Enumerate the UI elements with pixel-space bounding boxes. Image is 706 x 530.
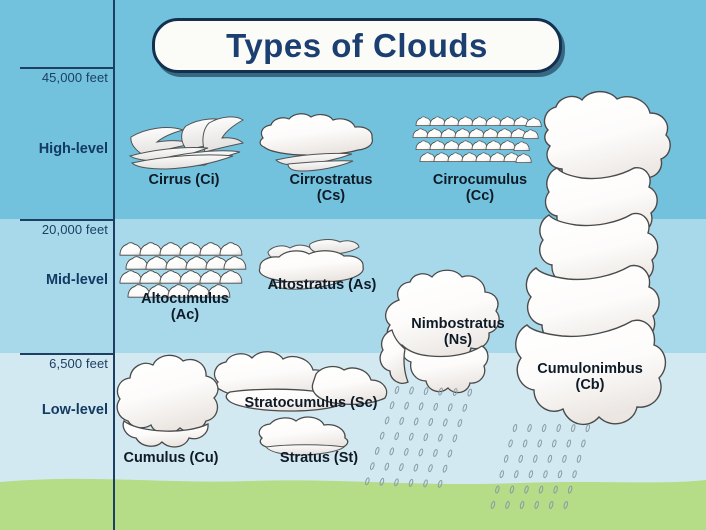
cloud-label-cirrus: Cirrus (Ci) (114, 172, 254, 188)
level-label-low: Low-level (8, 402, 108, 418)
altitude-label-45000: 45,000 feet (8, 70, 108, 85)
cloud-label-stratus: Stratus (St) (256, 450, 382, 466)
level-label-mid: Mid-level (8, 272, 108, 288)
cloud-label-stratocumulus: Stratocumulus (Sc) (216, 395, 406, 411)
cloud-label-cumulus: Cumulus (Cu) (106, 450, 236, 466)
page-title: Types of Clouds (226, 29, 488, 62)
cloud-label-cirrocumulus: Cirrocumulus (Cc) (400, 172, 560, 204)
cloud-label-altocumulus: Altocumulus (Ac) (110, 291, 260, 323)
altitude-label-20000: 20,000 feet (8, 222, 108, 237)
tick-6500 (20, 353, 115, 355)
cloud-label-cumulonimbus: Cumulonimbus (Cb) (506, 361, 674, 393)
title-banner: Types of Clouds (152, 18, 562, 73)
tick-20000 (20, 219, 115, 221)
cloud-label-nimbostratus: Nimbostratus (Ns) (378, 316, 538, 348)
altitude-label-6500: 6,500 feet (8, 356, 108, 371)
cloud-label-cirrostratus: Cirrostratus (Cs) (252, 172, 410, 204)
ground-grass (0, 468, 706, 530)
cloud-label-altostratus: Altostratus (As) (244, 277, 400, 293)
level-label-high: High-level (8, 141, 108, 157)
cloud-diagram: 45,000 feet 20,000 feet 6,500 feet High-… (0, 0, 706, 530)
tick-45000 (20, 67, 115, 69)
